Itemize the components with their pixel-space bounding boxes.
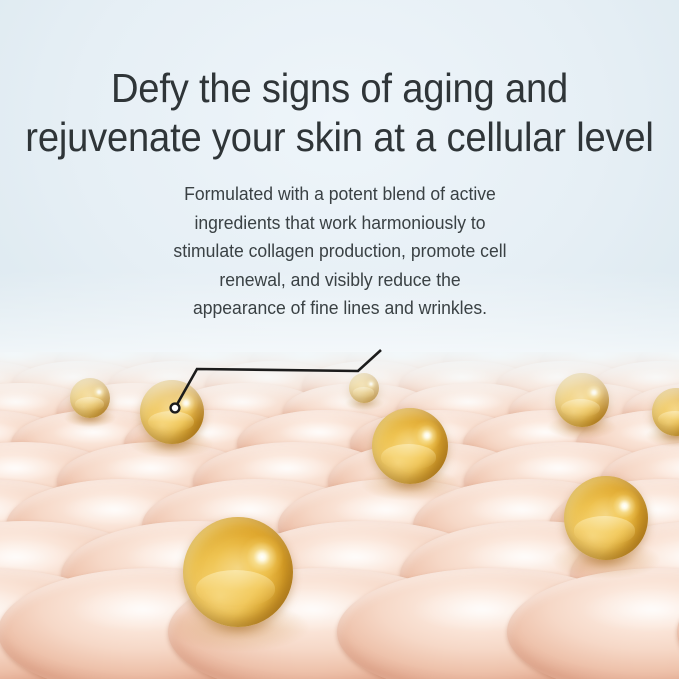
sphere-specular-highlight xyxy=(608,489,642,523)
sphere-callout-target xyxy=(140,380,204,444)
sphere-rim-shading xyxy=(349,373,379,403)
sphere-rim-shading xyxy=(70,378,110,418)
sphere-rim-shading xyxy=(555,373,609,427)
skin-surface-illustration xyxy=(0,352,679,679)
sphere-internal-caustic xyxy=(658,411,679,427)
skincare-ad-creative: Defy the signs of aging and rejuvenate y… xyxy=(0,0,679,679)
sphere-rim-shading xyxy=(140,380,204,444)
sphere-internal-caustic xyxy=(353,387,375,397)
sphere-internal-caustic xyxy=(196,570,275,607)
sphere-specular-highlight xyxy=(365,378,377,390)
sphere-tiny-mid xyxy=(349,373,379,403)
sphere-foreground-large xyxy=(183,517,293,627)
sphere-specular-highlight xyxy=(91,384,107,400)
sphere-specular-highlight xyxy=(412,420,442,450)
sphere-internal-caustic xyxy=(574,516,634,545)
body-copy: Formulated with a potent blend of active… xyxy=(172,180,506,323)
sphere-mid-center xyxy=(372,408,448,484)
sphere-small-far-left xyxy=(70,378,110,418)
sphere-specular-highlight xyxy=(583,382,605,404)
ad-copy-block: Defy the signs of aging and rejuvenate y… xyxy=(0,64,679,323)
sphere-internal-caustic xyxy=(561,399,600,417)
sphere-rim-shading xyxy=(372,408,448,484)
sphere-rim-shading xyxy=(564,476,648,560)
sphere-specular-highlight xyxy=(240,535,284,579)
sphere-rim-shading xyxy=(183,517,293,627)
sphere-far-right-upper xyxy=(555,373,609,427)
sphere-right-large xyxy=(564,476,648,560)
sphere-internal-caustic xyxy=(381,444,436,470)
headline-line-1: Defy the signs of aging and xyxy=(24,64,655,113)
sphere-internal-caustic xyxy=(148,411,194,433)
sphere-specular-highlight xyxy=(173,390,199,416)
sphere-internal-caustic xyxy=(75,397,104,411)
headline-line-2: rejuvenate your skin at a cellular level xyxy=(24,113,655,162)
page-title: Defy the signs of aging and rejuvenate y… xyxy=(24,64,655,162)
